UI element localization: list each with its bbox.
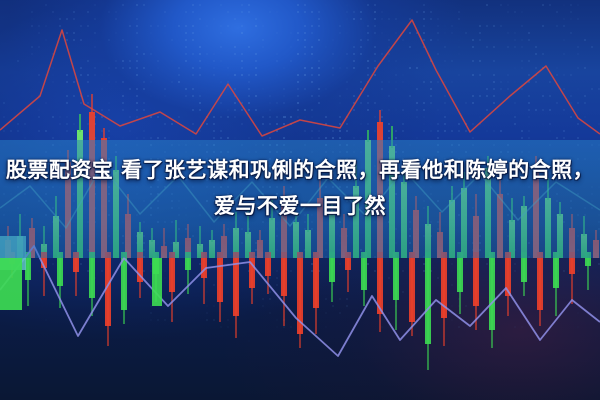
stock-banner-image: 股票配资宝 看了张艺谋和巩俐的合照，再看他和陈婷的合照，爱与不爱一目了然: [0, 0, 600, 400]
headline-highlight-band: [0, 140, 600, 258]
